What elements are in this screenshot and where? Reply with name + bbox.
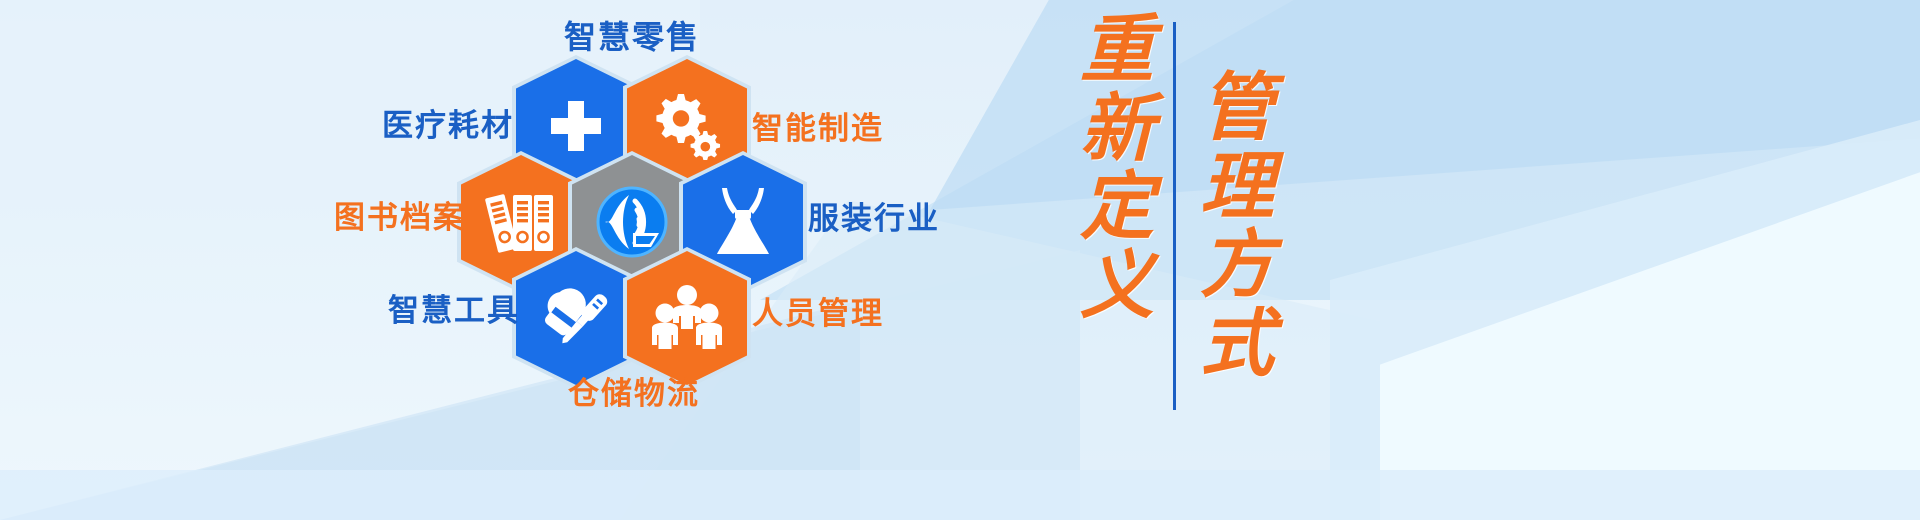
label-apparel: 服装行业 <box>808 193 940 238</box>
slogan-column-left: 重 新 定 义 <box>1080 14 1154 322</box>
rfid-signal-logo-icon <box>595 185 669 259</box>
slogan-divider <box>1173 22 1176 410</box>
slogan-char: 式 <box>1200 308 1274 381</box>
slogan-column-right: 管 理 方 式 <box>1200 72 1274 380</box>
slogan-char: 重 <box>1080 14 1154 87</box>
slogan-char: 新 <box>1080 93 1154 166</box>
gears-icon <box>651 92 723 160</box>
label-manufacturing: 智能制造 <box>752 103 884 148</box>
banner-root: 智慧零售 医疗耗材 智能制造 图书档案 服装行业 智慧工具 人员管理 仓储物流 … <box>0 0 1920 520</box>
slogan-char: 义 <box>1080 250 1154 323</box>
label-logistics: 仓储物流 <box>568 368 700 413</box>
binders-archive-icon <box>485 189 557 255</box>
label-retail: 智慧零售 <box>564 12 700 58</box>
slogan-block: 重 新 定 义 管 理 方 式 <box>1060 0 1360 520</box>
label-tools: 智慧工具 <box>388 285 520 330</box>
wrench-screwdriver-icon <box>539 281 613 355</box>
people-group-icon <box>649 283 725 353</box>
medical-cross-icon <box>545 95 607 157</box>
label-medical: 医疗耗材 <box>382 100 514 145</box>
label-people: 人员管理 <box>752 288 884 333</box>
background-shape-bottom-strip <box>0 470 1920 520</box>
slogan-char: 方 <box>1200 229 1274 302</box>
slogan-char: 定 <box>1080 171 1154 244</box>
dress-icon <box>709 184 777 260</box>
slogan-char: 理 <box>1200 151 1274 224</box>
label-books: 图书档案 <box>334 192 466 237</box>
slogan-char: 管 <box>1200 72 1274 145</box>
